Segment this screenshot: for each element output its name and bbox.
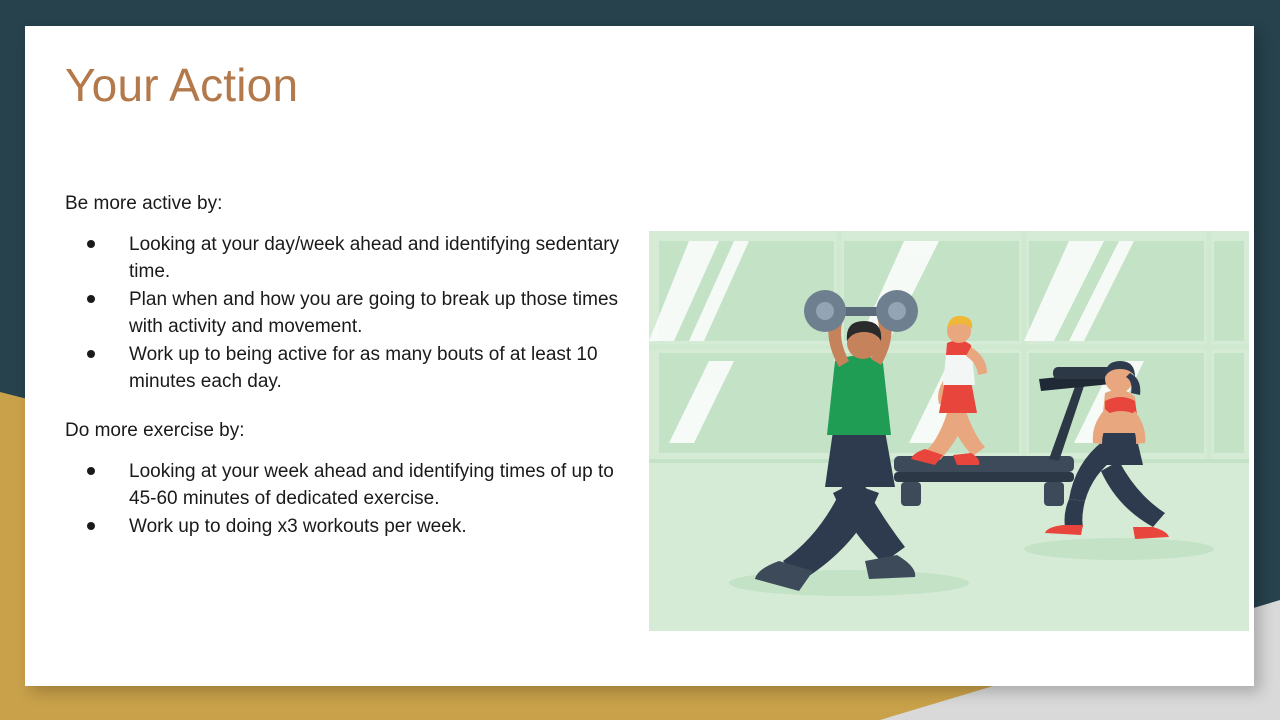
list-item: Looking at your day/week ahead and ident…	[65, 231, 645, 286]
list-item-text: Plan when and how you are going to break…	[129, 289, 618, 338]
bullet-list-active: Looking at your day/week ahead and ident…	[65, 231, 645, 396]
bullet-list-exercise: Looking at your week ahead and identifyi…	[65, 458, 645, 541]
bullet-dot-icon	[87, 467, 95, 475]
section-lead-active: Be more active by:	[65, 191, 645, 217]
slide-stage: Your Action Be more active by: Looking a…	[0, 0, 1280, 720]
bullet-dot-icon	[87, 522, 95, 530]
bullet-dot-icon	[87, 240, 95, 248]
gym-exercise-illustration	[649, 231, 1249, 631]
slide-card: Your Action Be more active by: Looking a…	[25, 26, 1254, 686]
list-item-text: Looking at your day/week ahead and ident…	[129, 234, 619, 283]
page-title: Your Action	[65, 60, 298, 111]
list-item-text: Work up to being active for as many bout…	[129, 344, 598, 393]
bullet-dot-icon	[87, 350, 95, 358]
list-item-text: Looking at your week ahead and identifyi…	[129, 461, 614, 510]
list-item: Looking at your week ahead and identifyi…	[65, 458, 645, 513]
bullet-dot-icon	[87, 295, 95, 303]
list-item: Work up to doing x3 workouts per week.	[65, 513, 645, 541]
section-lead-exercise: Do more exercise by:	[65, 418, 645, 444]
list-item: Plan when and how you are going to break…	[65, 286, 645, 341]
list-item-text: Work up to doing x3 workouts per week.	[129, 516, 467, 537]
list-item: Work up to being active for as many bout…	[65, 341, 645, 396]
slide-body: Be more active by: Looking at your day/w…	[65, 191, 645, 562]
